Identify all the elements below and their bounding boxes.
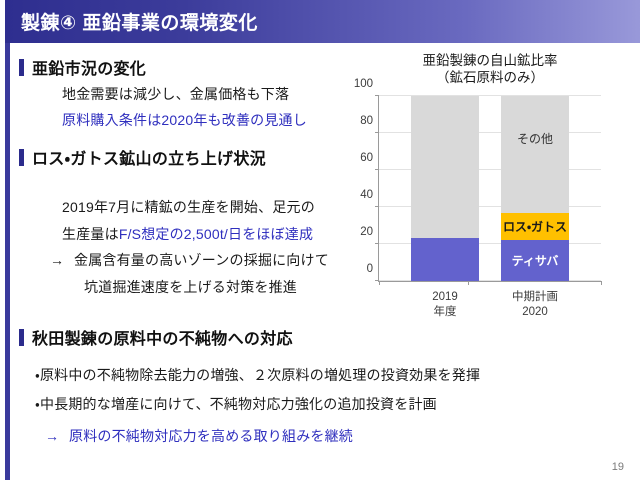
bar-segment-label: ロス・ガトス — [503, 218, 567, 235]
xaxis-label-midterm-2020: 中期計画 2020 — [512, 290, 558, 320]
ytick-label-40: 40 — [360, 189, 373, 201]
bar-segment-other-2019 — [411, 96, 479, 238]
xtick-mark-left-2019 — [379, 281, 380, 285]
akita-arrow-line: →原料の不純物対応力を高める取り組みを継続 — [45, 426, 353, 446]
page-number: 19 — [612, 461, 624, 473]
section-heading-label: ロス・ガトス鉱山の立ち上げ状況 — [32, 145, 266, 169]
chart-plot-area: 0 20 40 60 80 100 2019 — [378, 96, 601, 282]
bar-segment-tisapa-2020: ティサバ — [501, 240, 569, 281]
akita-bullet-1: ・原料中の不純物除去能力の増強、２次原料の増処理の投資効果を発揮 — [35, 365, 480, 385]
arrow-right-icon: → — [50, 252, 74, 268]
xaxis-label-2020-line2: 2020 — [512, 305, 558, 320]
arrow-right-icon: → — [45, 428, 69, 444]
slide-root: 製錬④ 亜鉛事業の環境変化 亜鉛市況の変化 地金需要は減少し、金属価格も下落 原… — [0, 0, 640, 480]
los-gatos-line-2-emphasis: F/S想定の2,500t/日をほぼ達成 — [119, 226, 313, 242]
section-heading-zinc-market: 亜鉛市況の変化 — [19, 55, 146, 79]
los-gatos-line-2: 生産量はF/S想定の2,500t/日をほぼ達成 — [62, 224, 313, 244]
ytick-mark-20 — [375, 243, 379, 244]
left-accent-strip — [5, 43, 10, 480]
akita-arrow-text: 原料の不純物対応力を高める取り組みを継続 — [69, 428, 353, 444]
ytick-label-100: 100 — [354, 78, 373, 90]
chart-title-main: 亜鉛製錬の自山鉱比率 — [340, 52, 640, 69]
ytick-mark-60 — [375, 169, 379, 170]
los-gatos-line-1: 2019年7月に精鉱の生産を開始、足元の — [62, 197, 315, 217]
zinc-market-line-2: 原料購入条件は2020年も改善の見通し — [62, 110, 307, 130]
ytick-mark-100 — [375, 95, 379, 96]
ytick-label-80: 80 — [360, 115, 373, 127]
bar-segment-label: その他 — [517, 130, 553, 147]
los-gatos-arrow-text-1: 金属含有量の高いゾーンの採掘に向けて — [74, 252, 329, 268]
bar-column-2019: 2019 年度 — [411, 96, 479, 281]
ytick-label-20: 20 — [360, 226, 373, 238]
los-gatos-arrow-line-2: 坑道掘進速度を上げる対策を推進 — [84, 277, 297, 297]
chart-plot-wrapper: 0 20 40 60 80 100 2019 — [340, 92, 640, 307]
bar-segment-losgatos-2020: ロス・ガトス — [501, 213, 569, 241]
bar-segment-other-2020: その他 — [501, 96, 569, 213]
slide-title: 製錬④ 亜鉛事業の環境変化 — [21, 8, 258, 35]
los-gatos-arrow-line-1: →金属含有量の高いゾーンの採掘に向けて — [50, 250, 329, 270]
heading-bullet-icon — [19, 329, 24, 346]
chart-panel: 亜鉛製錬の自山鉱比率 （鉱石原料のみ） 0 20 40 — [340, 52, 640, 312]
los-gatos-line-2-prefix: 生産量は — [62, 226, 119, 242]
chart-title-block: 亜鉛製錬の自山鉱比率 （鉱石原料のみ） — [340, 52, 640, 86]
heading-bullet-icon — [19, 59, 24, 76]
slide-header-bar: 製錬④ 亜鉛事業の環境変化 — [5, 0, 640, 43]
xaxis-label-2019-line2: 年度 — [432, 305, 458, 320]
xaxis-label-2019-line1: 2019 — [432, 290, 458, 305]
akita-bullet-2: ・中長期的な増産に向けて、不純物対応力強化の追加投資を計画 — [35, 394, 437, 414]
chart-title-sub: （鉱石原料のみ） — [340, 69, 640, 86]
bar-segment-label: ティサバ — [512, 252, 559, 269]
ytick-mark-80 — [375, 132, 379, 133]
zinc-market-line-1: 地金需要は減少し、金属価格も下落 — [62, 84, 289, 104]
ytick-label-0: 0 — [367, 263, 373, 275]
xaxis-label-2020-line1: 中期計画 — [512, 290, 558, 305]
xaxis-label-2019: 2019 年度 — [432, 290, 458, 320]
section-heading-los-gatos: ロス・ガトス鉱山の立ち上げ状況 — [19, 145, 266, 169]
bar-column-midterm-2020: ティサバ ロス・ガトス その他 中期計画 2020 — [501, 96, 569, 281]
xtick-mark-left-2020 — [468, 281, 469, 285]
bar-segment-tisapa-2019 — [411, 238, 479, 281]
ytick-label-60: 60 — [360, 152, 373, 164]
section-heading-label: 秋田製錬の原料中の不純物への対応 — [32, 325, 293, 349]
ytick-mark-40 — [375, 206, 379, 207]
heading-bullet-icon — [19, 149, 24, 166]
xtick-mark-right-2020 — [601, 281, 602, 285]
section-heading-akita: 秋田製錬の原料中の不純物への対応 — [19, 325, 293, 349]
section-heading-label: 亜鉛市況の変化 — [32, 55, 146, 79]
